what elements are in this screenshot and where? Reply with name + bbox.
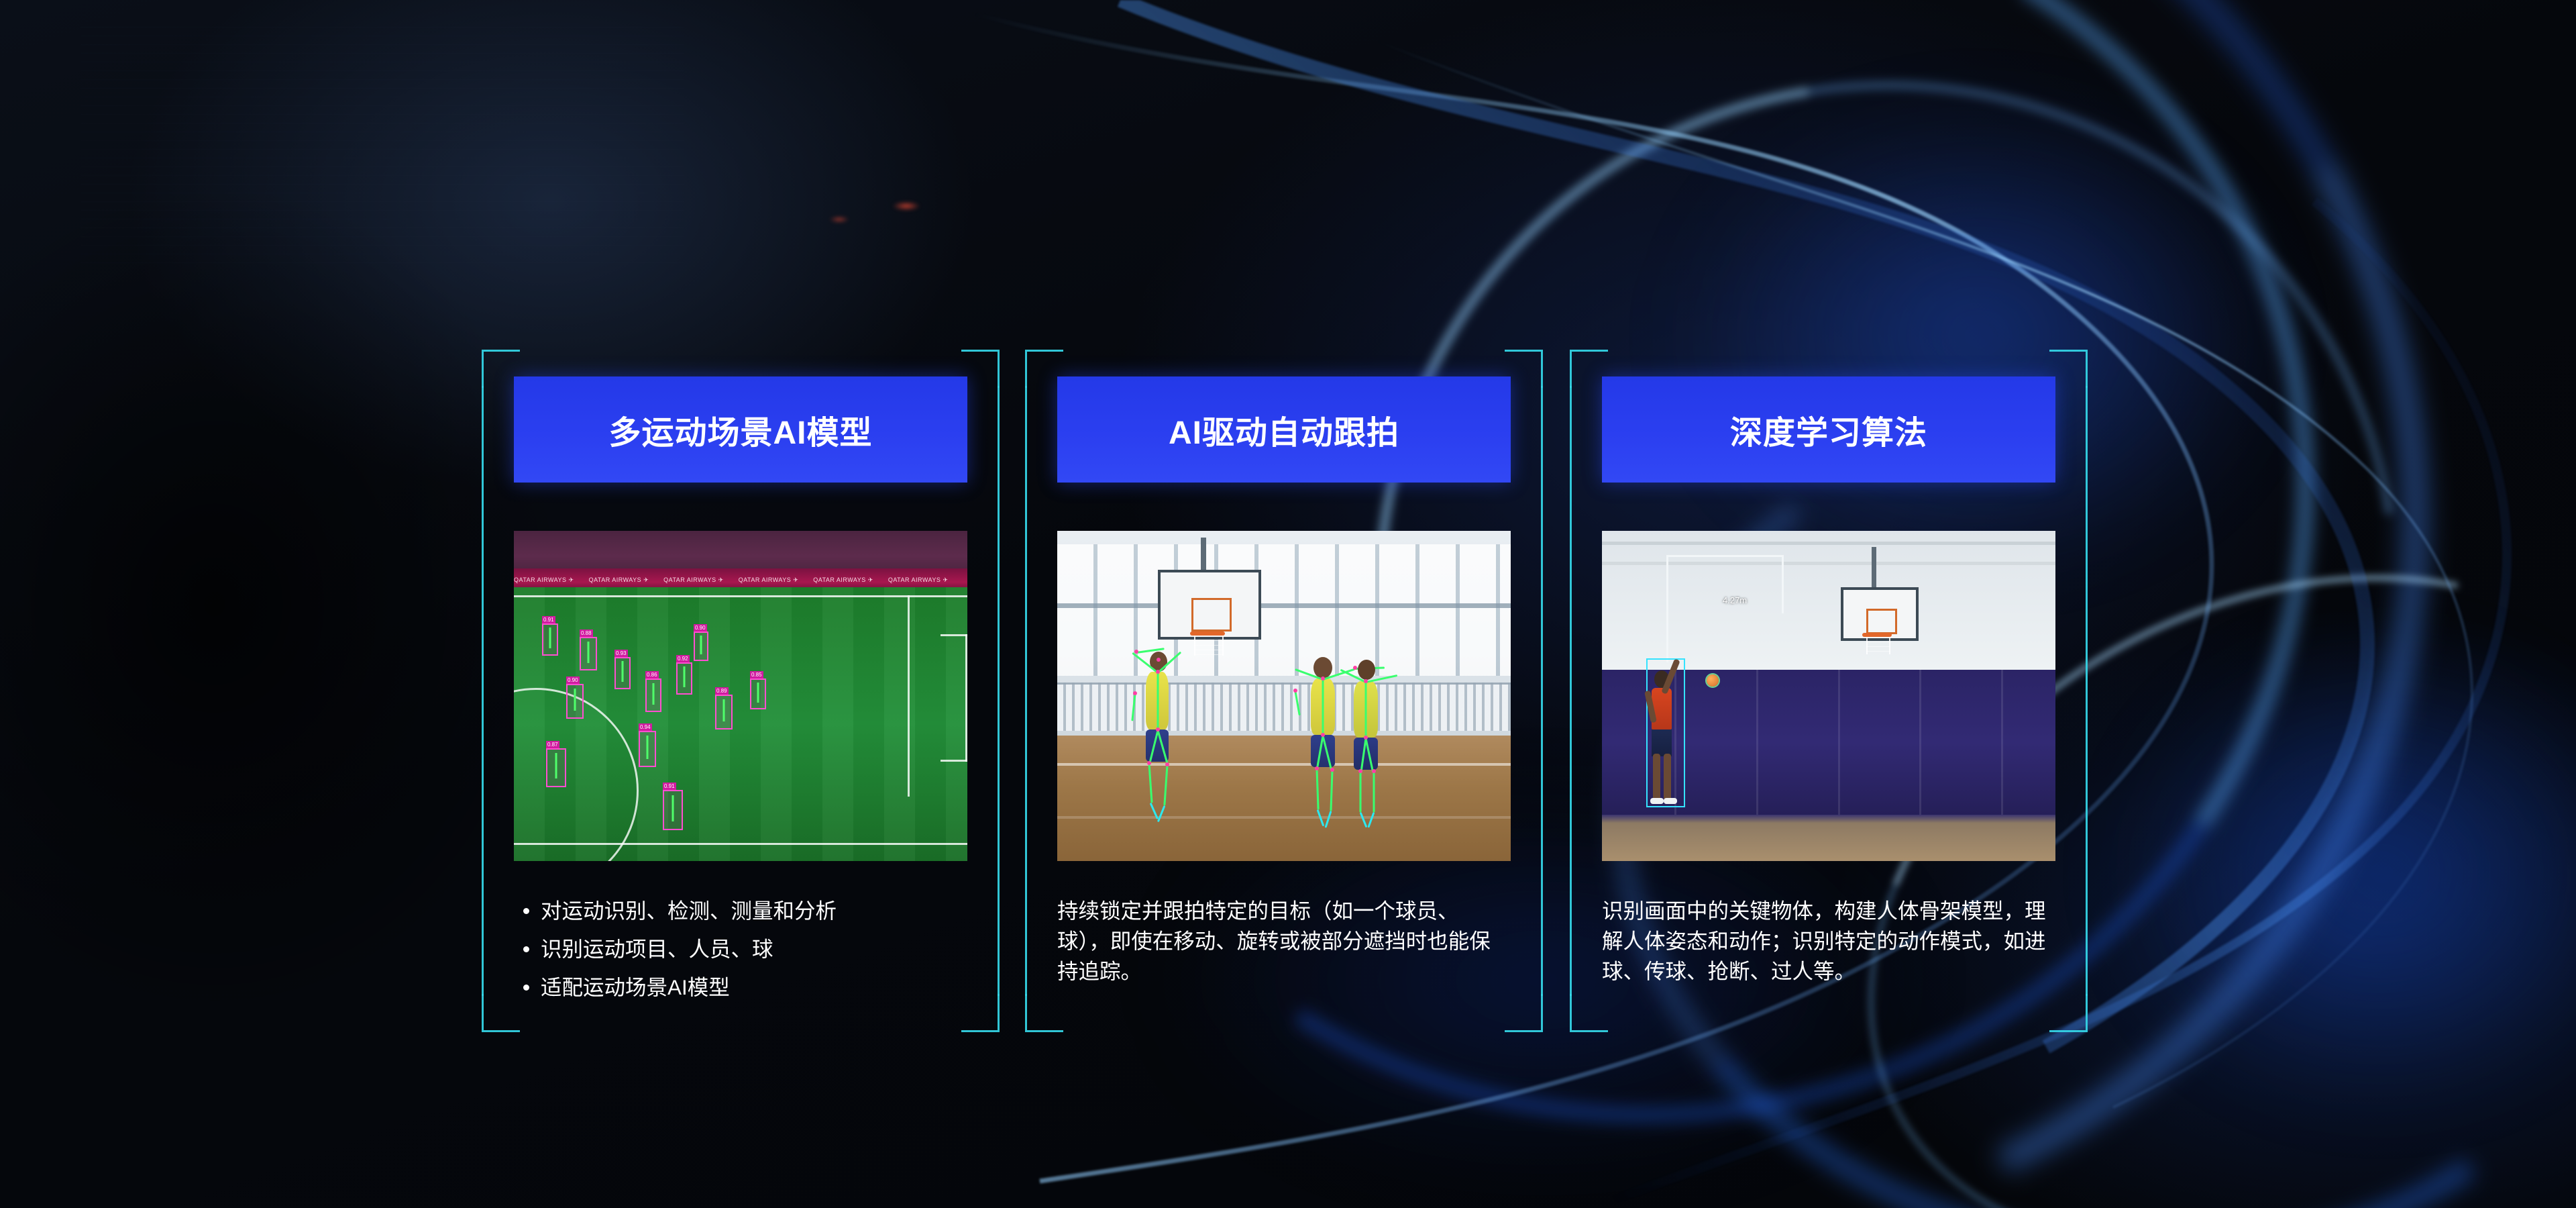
player-shoe-right [1664, 798, 1677, 804]
pitch-lower-line [514, 843, 967, 845]
measurement-vertical [1666, 555, 1668, 662]
pitch-penalty-line [908, 595, 910, 797]
ad-text: QATAR AIRWAYS ✈ [888, 576, 949, 584]
feature-card-deep-learning-algorithm[interactable]: 深度学习算法 [1570, 350, 2088, 1032]
player-shooting-figure [1644, 652, 1690, 813]
player-detection-box: 0.88 [580, 637, 597, 670]
pitch-sideline [514, 595, 967, 597]
player-detection-box: 0.92 [676, 662, 692, 695]
pose-skeleton-left [1128, 645, 1209, 846]
card-title: 多运动场景AI模型 [514, 376, 967, 483]
ad-text: QATAR AIRWAYS ✈ [813, 576, 873, 584]
player-detection-box: 0.94 [639, 731, 656, 767]
list-item: 识别运动项目、人员、球 [514, 934, 967, 964]
card-title: 深度学习算法 [1602, 376, 2055, 483]
list-item: 对运动识别、检测、测量和分析 [514, 896, 967, 926]
soccer-field-detection-photo: QATAR AIRWAYS ✈ QATAR AIRWAYS ✈ QATAR AI… [514, 531, 967, 861]
player-detection-box: 0.89 [715, 695, 733, 729]
pitch-goal-area-2 [941, 760, 967, 762]
player-head-right-a [1313, 657, 1332, 678]
player-head-right-b [1358, 660, 1375, 680]
corner-bracket-bottom-left [1570, 994, 1608, 1032]
card-edge-left [1025, 386, 1027, 996]
pitch-turf: 0.91 0.88 0.93 0.90 0.86 0.92 0.89 0.94 … [514, 587, 967, 861]
player-detection-box: 0.86 [645, 678, 661, 712]
card-body: 持续锁定并跟拍特定的目标（如一个球员、球），即使在移动、旋转或被部分遮挡时也能保… [1057, 896, 1511, 987]
player-leg-right [1664, 754, 1671, 801]
feature-paragraph: 持续锁定并跟拍特定的目标（如一个球员、球），即使在移动、旋转或被部分遮挡时也能保… [1057, 896, 1511, 987]
hoop-net [1866, 637, 1890, 654]
player-jersey [1652, 688, 1672, 729]
feature-bullet-list: 对运动识别、检测、测量和分析 识别运动项目、人员、球 适配运动场景AI模型 [514, 896, 967, 1003]
indoor-basketball-pose-photo [1057, 531, 1511, 861]
pitch-goal-line [965, 634, 967, 762]
card-body: 识别画面中的关键物体，构建人体骨架模型，理解人体姿态和动作；识别特定的动作模式，… [1602, 896, 2055, 987]
player-leg-left [1653, 754, 1660, 801]
backboard-inner-square [1866, 609, 1897, 634]
list-item: 适配运动场景AI模型 [514, 972, 967, 1003]
player-detection-box: 0.85 [750, 678, 766, 709]
player-shoe-left [1650, 798, 1664, 804]
corner-bracket-bottom-left [1025, 994, 1063, 1032]
ceiling-beam [1602, 542, 2055, 545]
card-edge-right [998, 386, 1000, 996]
slide-canvas: 多运动场景AI模型 QATAR AIRWAYS ✈ QATAR AIRWAYS … [0, 0, 2576, 1208]
feature-card-ai-auto-tracking[interactable]: AI驱动自动跟拍 [1025, 350, 1543, 1032]
backboard [1158, 570, 1261, 640]
basketball-tracked [1707, 674, 1719, 687]
player-detection-box: 0.87 [546, 748, 566, 787]
pitch-goal-area [941, 634, 967, 636]
measurement-label: 4.27m [1723, 595, 1747, 605]
pose-skeleton-right-b [1338, 653, 1418, 854]
gym-floor [1057, 736, 1511, 861]
feature-paragraph: 识别画面中的关键物体，构建人体骨架模型，理解人体姿态和动作；识别特定的动作模式，… [1602, 896, 2055, 987]
corner-bracket-bottom-right [1505, 994, 1543, 1032]
player-detection-box: 0.90 [694, 632, 708, 661]
card-title: AI驱动自动跟拍 [1057, 376, 1511, 483]
ad-text: QATAR AIRWAYS ✈ [739, 576, 799, 584]
feature-card-multi-sport-ai-model[interactable]: 多运动场景AI模型 QATAR AIRWAYS ✈ QATAR AIRWAYS … [482, 350, 1000, 1032]
card-body: 对运动识别、检测、测量和分析 识别运动项目、人员、球 适配运动场景AI模型 [514, 896, 967, 1003]
player-detection-box: 0.91 [542, 623, 558, 656]
card-edge-left [482, 386, 484, 996]
gym-radiator [1057, 683, 1511, 731]
gym-floor [1602, 815, 2055, 861]
card-edge-right [2086, 386, 2088, 996]
card-edge-left [1570, 386, 1572, 996]
basketball-shooting-measurement-photo: 4.27m [1602, 531, 2055, 861]
ad-text: QATAR AIRWAYS ✈ [514, 576, 574, 584]
window-mullion [1057, 603, 1511, 608]
player-detection-box: 0.93 [614, 657, 631, 689]
hoop-support-arm [1872, 547, 1876, 591]
ad-text: QATAR AIRWAYS ✈ [663, 576, 724, 584]
backboard-inner-square [1191, 598, 1232, 632]
ad-text: QATAR AIRWAYS ✈ [589, 576, 649, 584]
feature-card-row: 多运动场景AI模型 QATAR AIRWAYS ✈ QATAR AIRWAYS … [0, 0, 2576, 1208]
card-edge-right [1541, 386, 1543, 996]
player-shorts [1652, 729, 1672, 756]
corner-bracket-bottom-right [2049, 994, 2088, 1032]
player-detection-box: 0.90 [566, 684, 584, 719]
player-detection-box: 0.91 [663, 790, 683, 830]
gym-windows [1057, 544, 1511, 676]
